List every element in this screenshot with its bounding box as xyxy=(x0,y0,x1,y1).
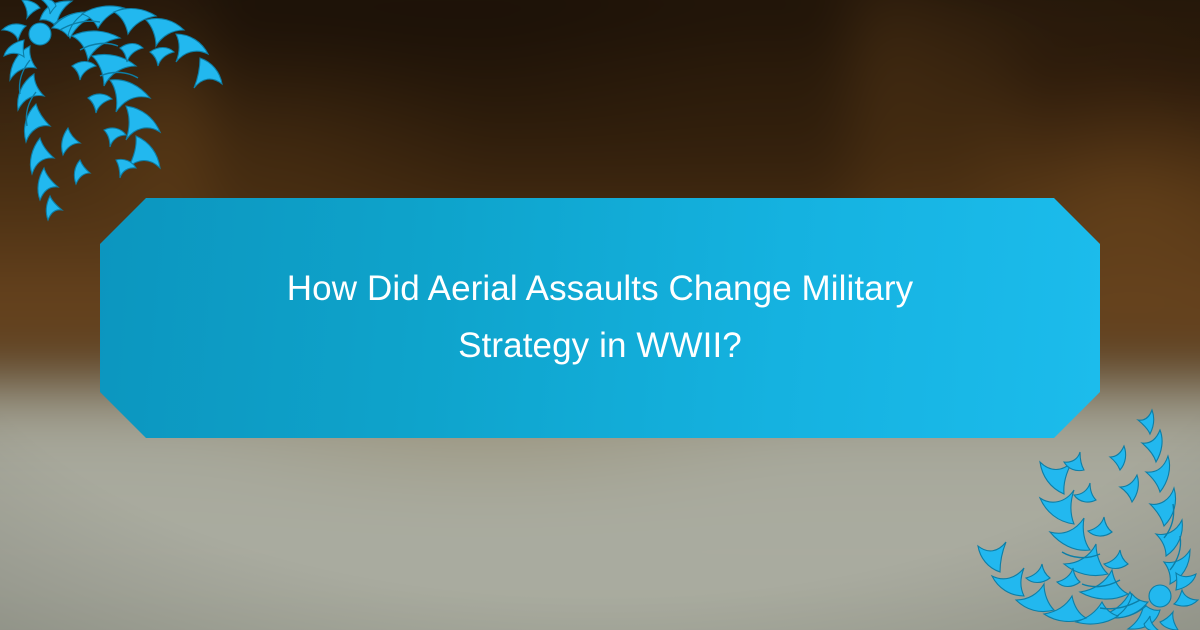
page-title: How Did Aerial Assaults Change Military … xyxy=(250,261,950,374)
share-card-canvas: How Did Aerial Assaults Change Military … xyxy=(0,0,1200,630)
title-banner: How Did Aerial Assaults Change Military … xyxy=(100,198,1100,438)
